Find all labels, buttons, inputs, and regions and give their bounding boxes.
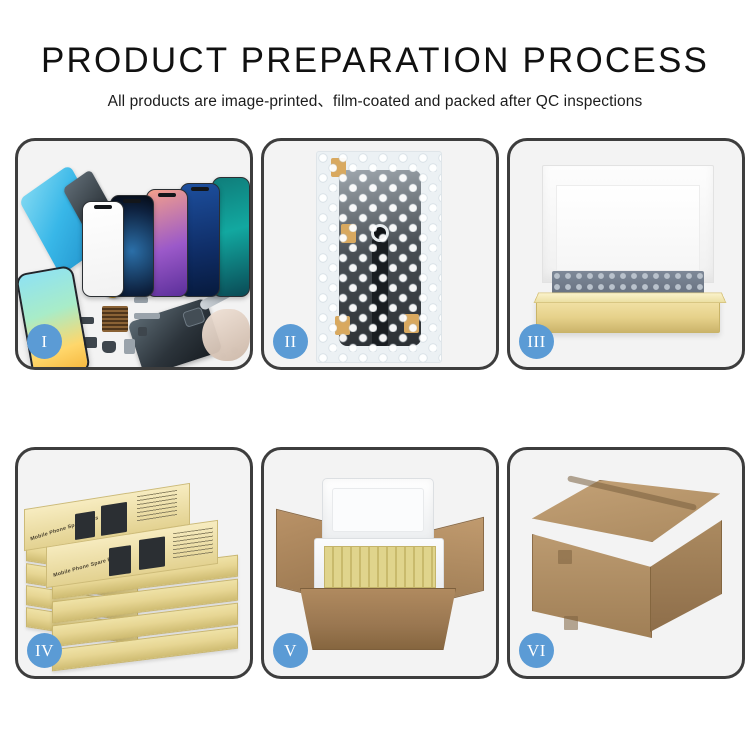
foam-box-lid: [322, 478, 434, 542]
process-step-panel-3[interactable]: III: [507, 138, 745, 370]
part-camera-1: [102, 341, 116, 353]
carton-front-face: [532, 534, 652, 638]
step-badge-5: V: [273, 633, 308, 668]
part-connector-1: [124, 339, 135, 354]
carton-tab-2: [564, 616, 578, 630]
step-badge-4: IV: [27, 633, 62, 668]
white-box-lid-inner: [556, 185, 700, 271]
printed-box-1-image-1: [75, 511, 95, 540]
process-step-panel-5[interactable]: V: [261, 447, 499, 679]
page-title: PRODUCT PREPARATION PROCESS: [0, 41, 750, 81]
phone-1: [82, 201, 124, 297]
chip-part-icon: [102, 306, 128, 332]
step-badge-2: II: [273, 324, 308, 359]
bubble-texture: [317, 152, 441, 362]
printed-box-2-text-lines: [173, 528, 213, 560]
process-step-panel-6[interactable]: VI: [507, 447, 745, 679]
part-bracket-2: [134, 297, 148, 303]
yellow-box-tray: [536, 299, 720, 333]
printed-box-1-image-2: [101, 502, 127, 536]
step-badge-1: I: [27, 324, 62, 359]
printed-box-2-image-1: [109, 545, 131, 576]
step-badge-3: III: [519, 324, 554, 359]
yellow-boxes-inside: [324, 546, 436, 588]
page-header: PRODUCT PREPARATION PROCESS All products…: [0, 0, 750, 111]
carton-body: [300, 588, 456, 650]
part-flex-3: [134, 313, 160, 319]
process-step-grid: I II III: [15, 138, 745, 679]
process-step-panel-4[interactable]: Mobile Phone Spare Parts Mobile Phone Sp…: [15, 447, 253, 679]
bubble-wrap-pouch: [316, 151, 442, 363]
process-step-panel-2[interactable]: II: [261, 138, 499, 370]
carton-tab-1: [558, 550, 572, 564]
carton-side-face: [650, 520, 722, 632]
phone-lineup: [80, 167, 250, 297]
hand-icon: [202, 309, 250, 361]
part-screw-plate: [138, 327, 147, 336]
printed-box-2-image-2: [139, 536, 165, 570]
page-subtitle: All products are image-printed、film-coat…: [0, 89, 750, 111]
process-step-panel-1[interactable]: I: [15, 138, 253, 370]
step-badge-6: VI: [519, 633, 554, 668]
printed-box-1-text-lines: [137, 490, 177, 522]
